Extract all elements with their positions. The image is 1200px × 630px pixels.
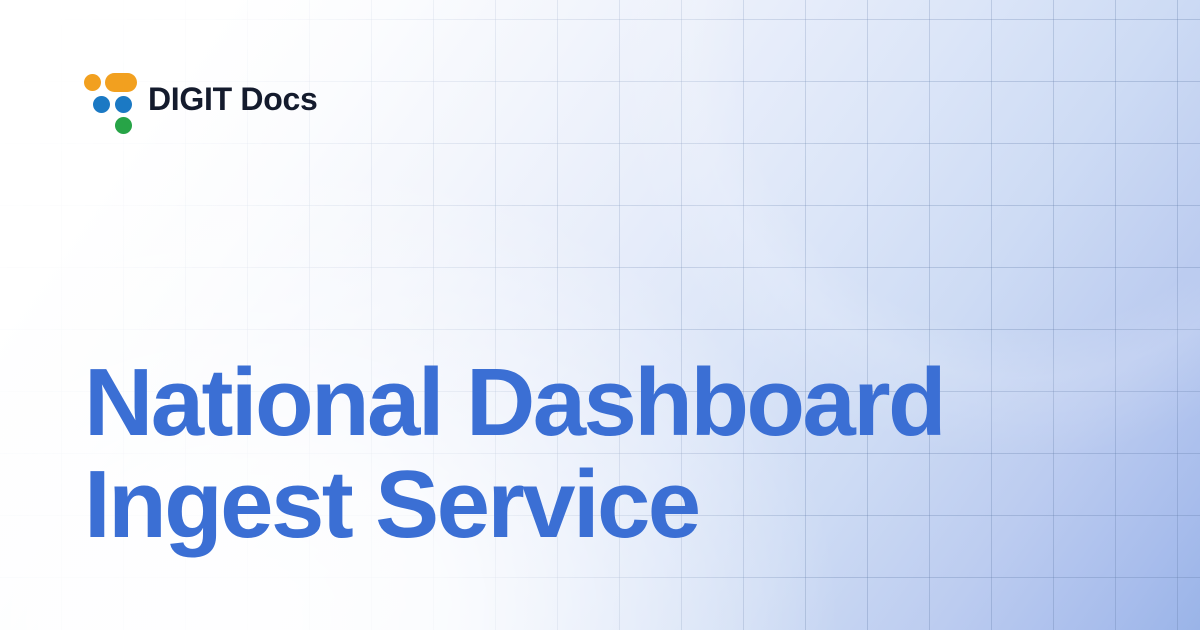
digit-dots-logo-icon bbox=[84, 72, 130, 124]
orange-pill-dot-icon bbox=[105, 73, 137, 92]
page-title: National Dashboard Ingest Service bbox=[84, 352, 1084, 556]
blue-right-dot-icon bbox=[115, 96, 132, 113]
brand-lockup: DIGIT Docs bbox=[84, 72, 317, 124]
blue-left-dot-icon bbox=[93, 96, 110, 113]
brand-name: DIGIT Docs bbox=[148, 83, 317, 115]
page-title-line-1: National Dashboard bbox=[84, 352, 1084, 454]
og-banner-card: DIGIT Docs National Dashboard Ingest Ser… bbox=[0, 0, 1200, 630]
orange-small-dot-icon bbox=[84, 74, 101, 91]
green-dot-icon bbox=[115, 117, 132, 134]
page-title-line-2: Ingest Service bbox=[84, 454, 1084, 556]
